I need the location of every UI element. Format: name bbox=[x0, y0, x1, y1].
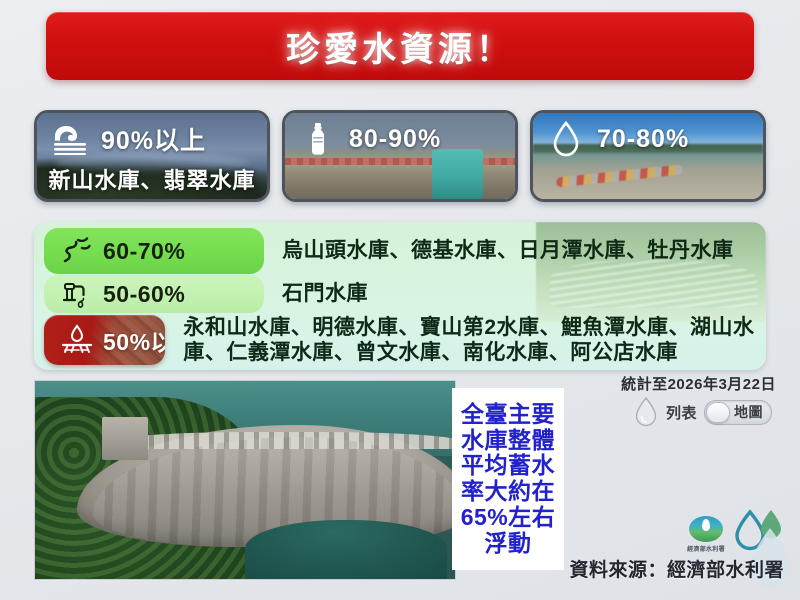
view-toggle[interactable]: 列表 地圖 bbox=[633, 396, 772, 428]
title-banner: 珍愛水資源！ bbox=[46, 12, 754, 80]
toggle-label-list[interactable]: 列表 bbox=[666, 402, 697, 423]
card-header: 80-90% bbox=[285, 113, 515, 165]
photo-card-90-above[interactable]: 90%以上 新山水庫、翡翠水庫 bbox=[34, 110, 270, 202]
reservoir-list: 烏山頭水庫、德基水庫、日月潭水庫、牡丹水庫 bbox=[282, 239, 734, 264]
card-range-label: 90%以上 bbox=[101, 121, 206, 157]
reservoir-list: 石門水庫 bbox=[282, 282, 368, 307]
wra-logo-caption: 經濟部水利署 bbox=[680, 544, 732, 553]
average-storage-note: 全臺主要 水庫整體 平均蓄水 率大約在 65%左右 浮動 bbox=[452, 388, 564, 570]
card-header: 70-80% bbox=[533, 113, 763, 165]
dam-aerial-photo bbox=[34, 380, 456, 580]
range-pill: 50-60% bbox=[44, 275, 264, 313]
reservoir-list: 永和山水庫、明德水庫、寶山第2水庫、鯉魚潭水庫、湖山水庫、仁義潭水庫、曾文水庫、… bbox=[183, 316, 756, 366]
list-map-switch[interactable]: 地圖 bbox=[704, 400, 772, 425]
page-title: 珍愛水資源！ bbox=[286, 22, 514, 71]
photo-cards-row: 90%以上 新山水庫、翡翠水庫 80-90% bbox=[34, 110, 766, 202]
switch-knob[interactable] bbox=[706, 402, 730, 423]
range-label: 60-70% bbox=[103, 238, 185, 265]
wra-logo-badge bbox=[689, 516, 723, 542]
average-storage-note-text: 全臺主要 水庫整體 平均蓄水 率大約在 65%左右 浮動 bbox=[461, 402, 556, 557]
range-pill: 50%以下 bbox=[44, 315, 165, 365]
wra-logo: 經濟部水利署 bbox=[680, 516, 732, 560]
list-row-50-60[interactable]: 50-60% 石門水庫 bbox=[44, 275, 756, 313]
faucet-icon bbox=[60, 277, 94, 311]
infographic-root: 珍愛水資源！ 90%以上 新山水庫、翡翠水庫 bbox=[0, 0, 800, 600]
card-caption: 新山水庫、翡翠水庫 bbox=[37, 163, 267, 195]
photo-card-70-80[interactable]: 70-80% bbox=[530, 110, 766, 202]
reservoir-list-panel: 60-70% 烏山頭水庫、德基水庫、日月潭水庫、牡丹水庫 50-60% bbox=[34, 222, 766, 370]
water-bottle-icon bbox=[299, 122, 337, 156]
date-stamp: 統計至2026年3月22日 bbox=[621, 373, 776, 394]
winding-river-icon bbox=[60, 234, 94, 268]
list-row-under-50[interactable]: 50%以下 永和山水庫、明德水庫、寶山第2水庫、鯉魚潭水庫、湖山水庫、仁義潭水庫… bbox=[44, 315, 756, 365]
intake-tower bbox=[102, 417, 148, 461]
stilling-basin bbox=[245, 520, 447, 579]
toggle-label-map[interactable]: 地圖 bbox=[734, 402, 763, 422]
card-range-label: 70-80% bbox=[597, 125, 689, 154]
photo-card-80-90[interactable]: 80-90% bbox=[282, 110, 518, 202]
drought-cracked-earth-icon bbox=[60, 323, 94, 357]
card-header: 90%以上 bbox=[37, 113, 267, 165]
range-label: 50-60% bbox=[103, 281, 185, 308]
card-range-label: 80-90% bbox=[349, 125, 441, 154]
range-pill: 60-70% bbox=[44, 228, 264, 274]
list-row-60-70[interactable]: 60-70% 烏山頭水庫、德基水庫、日月潭水庫、牡丹水庫 bbox=[44, 228, 756, 274]
source-attribution: 資料來源：經濟部水利署 bbox=[569, 555, 784, 582]
water-drop-icon bbox=[633, 396, 659, 428]
water-drop-icon bbox=[547, 122, 585, 156]
range-label: 50%以下 bbox=[103, 323, 165, 357]
wave-icon bbox=[51, 122, 89, 156]
